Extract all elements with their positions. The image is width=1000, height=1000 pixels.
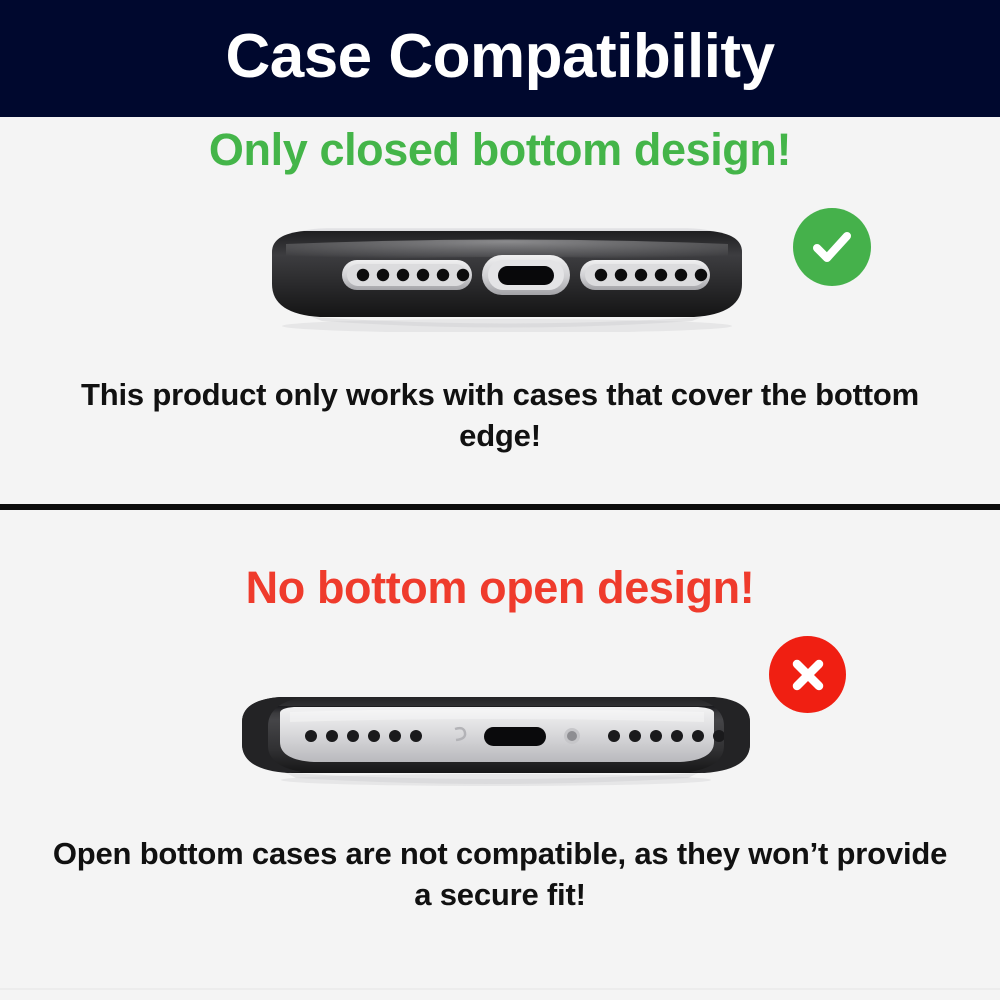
footer-divider [0, 988, 1000, 990]
check-circle-icon [793, 208, 871, 286]
section-divider [0, 504, 1000, 510]
x-circle-icon [769, 636, 846, 713]
case-compatibility-infographic: Case Compatibility Only closed bottom de… [0, 0, 1000, 1000]
phone-open-bottom-case-image [228, 686, 763, 786]
phone-closed-bottom-case-image [242, 222, 772, 332]
caption-compatible: This product only works with cases that … [50, 374, 950, 456]
section-heading-incompatible: No bottom open design! [0, 562, 1000, 614]
caption-incompatible: Open bottom cases are not compatible, as… [50, 833, 950, 915]
page-title: Case Compatibility [0, 14, 1000, 100]
section-heading-compatible: Only closed bottom design! [0, 124, 1000, 176]
